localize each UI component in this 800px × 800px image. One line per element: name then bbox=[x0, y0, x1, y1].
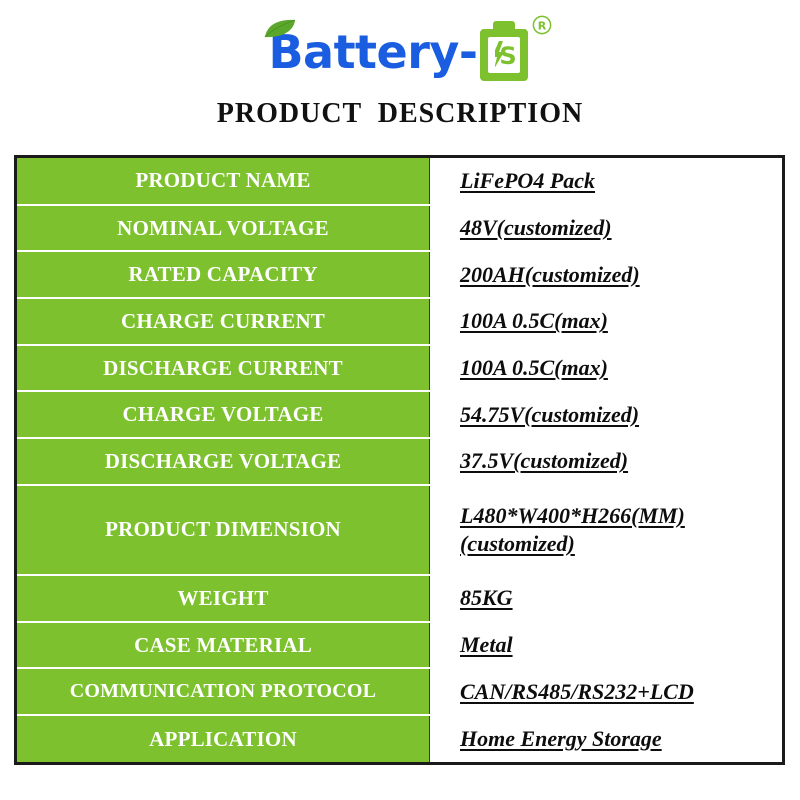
value-text-line2: (customized) bbox=[460, 530, 575, 558]
logo-wordmark: Battery- bbox=[268, 29, 477, 75]
value-text: 48V(customized) bbox=[460, 214, 612, 242]
spec-label-discharge-current: DISCHARGE CURRENT bbox=[17, 345, 430, 392]
table-row: NOMINAL VOLTAGE 48V(customized) bbox=[17, 205, 782, 252]
svg-text:S: S bbox=[499, 42, 516, 70]
page-title: PRODUCT DESCRIPTION bbox=[0, 98, 800, 130]
product-description-page: Battery- S R PRODUCT DESCRIPTION bbox=[0, 0, 800, 800]
spec-label-charge-voltage: CHARGE VOLTAGE bbox=[17, 391, 430, 438]
table-row: PRODUCT NAME LiFePO4 Pack bbox=[17, 158, 782, 205]
value-text: Metal bbox=[460, 631, 513, 659]
table-row: WEIGHT 85KG bbox=[17, 575, 782, 622]
value-text: 37.5V(customized) bbox=[460, 447, 628, 475]
spec-value-case-material: Metal bbox=[430, 622, 783, 669]
table-row: COMMUNICATION PROTOCOL CAN/RS485/RS232+L… bbox=[17, 668, 782, 715]
value-text: Home Energy Storage bbox=[460, 725, 662, 753]
table-row: DISCHARGE VOLTAGE 37.5V(customized) bbox=[17, 438, 782, 485]
table-row: CHARGE CURRENT 100A 0.5C(max) bbox=[17, 298, 782, 345]
value-text: LiFePO4 Pack bbox=[460, 167, 595, 195]
value-text: 85KG bbox=[460, 584, 513, 612]
spec-label-charge-current: CHARGE CURRENT bbox=[17, 298, 430, 345]
table-row: PRODUCT DIMENSION L480*W400*H266(MM) (cu… bbox=[17, 485, 782, 575]
spec-label-rated-capacity: RATED CAPACITY bbox=[17, 251, 430, 298]
value-text: 54.75V(customized) bbox=[460, 401, 639, 429]
value-text: 100A 0.5C(max) bbox=[460, 307, 608, 335]
battery-icon: S bbox=[476, 19, 532, 85]
brand-logo: Battery- S R bbox=[0, 0, 800, 96]
registered-trademark-icon: R bbox=[532, 15, 552, 35]
spec-value-weight: 85KG bbox=[430, 575, 783, 622]
spec-value-charge-voltage: 54.75V(customized) bbox=[430, 391, 783, 438]
spec-value-charge-current: 100A 0.5C(max) bbox=[430, 298, 783, 345]
svg-text:R: R bbox=[537, 20, 546, 33]
spec-label-application: APPLICATION bbox=[17, 715, 430, 762]
spec-value-product-name: LiFePO4 Pack bbox=[430, 158, 783, 205]
spec-label-product-name: PRODUCT NAME bbox=[17, 158, 430, 205]
spec-label-communication-protocol: COMMUNICATION PROTOCOL bbox=[17, 668, 430, 715]
table-row: CHARGE VOLTAGE 54.75V(customized) bbox=[17, 391, 782, 438]
spec-value-discharge-current: 100A 0.5C(max) bbox=[430, 345, 783, 392]
table-row: CASE MATERIAL Metal bbox=[17, 622, 782, 669]
spec-label-case-material: CASE MATERIAL bbox=[17, 622, 430, 669]
table-row: APPLICATION Home Energy Storage bbox=[17, 715, 782, 762]
value-text: 200AH(customized) bbox=[460, 261, 640, 289]
spec-value-nominal-voltage: 48V(customized) bbox=[430, 205, 783, 252]
spec-value-discharge-voltage: 37.5V(customized) bbox=[430, 438, 783, 485]
logo-group: Battery- S R bbox=[268, 17, 531, 87]
spec-label-discharge-voltage: DISCHARGE VOLTAGE bbox=[17, 438, 430, 485]
spec-label-nominal-voltage: NOMINAL VOLTAGE bbox=[17, 205, 430, 252]
table-row: DISCHARGE CURRENT 100A 0.5C(max) bbox=[17, 345, 782, 392]
spec-value-product-dimension: L480*W400*H266(MM) (customized) bbox=[430, 485, 783, 575]
spec-value-application: Home Energy Storage bbox=[430, 715, 783, 762]
table-row: RATED CAPACITY 200AH(customized) bbox=[17, 251, 782, 298]
spec-label-product-dimension: PRODUCT DIMENSION bbox=[17, 485, 430, 575]
value-text: 100A 0.5C(max) bbox=[460, 354, 608, 382]
spec-value-rated-capacity: 200AH(customized) bbox=[430, 251, 783, 298]
value-text-line1: L480*W400*H266(MM) bbox=[460, 502, 685, 530]
value-text: CAN/RS485/RS232+LCD bbox=[460, 678, 694, 706]
spec-value-communication-protocol: CAN/RS485/RS232+LCD bbox=[430, 668, 783, 715]
spec-label-weight: WEIGHT bbox=[17, 575, 430, 622]
product-spec-table: PRODUCT NAME LiFePO4 Pack NOMINAL VOLTAG… bbox=[14, 155, 785, 765]
